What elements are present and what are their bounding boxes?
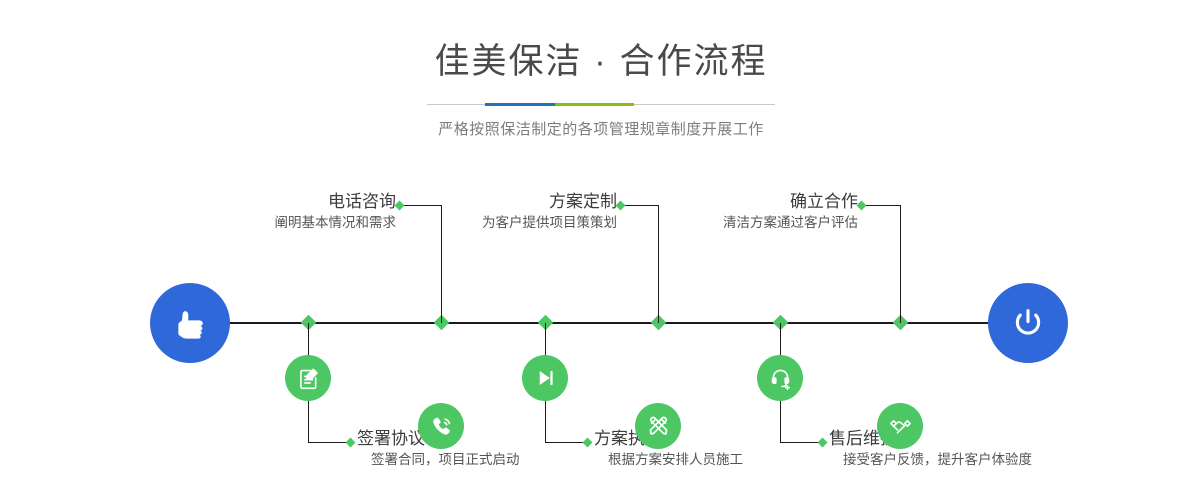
step-icon-badge[interactable] [285,355,331,401]
label-marker [616,201,626,211]
phone-call-icon [428,413,455,440]
step-icon-badge[interactable] [757,355,803,401]
connector-horizontal [399,205,442,206]
play-next-icon [532,365,558,391]
step-label: 确立合作 清洁方案通过客户评估 [683,191,858,233]
step-description: 根据方案安排人员施工 [594,450,743,470]
divider-blue-segment [485,103,555,106]
connector-vertical [658,205,659,323]
step-icon-badge[interactable] [635,403,681,449]
document-edit-icon [295,365,322,392]
hand-pointing-icon [168,301,212,345]
label-marker [857,201,867,211]
flow-diagram-page: 佳美保洁 · 合作流程 严格按照保洁制定的各项管理规章制度开展工作 [0,0,1202,502]
connector-vertical [900,205,901,323]
handshake-icon [887,413,914,440]
label-marker [818,438,828,448]
pencil-ruler-icon [645,413,672,440]
connector-horizontal [861,205,901,206]
connector-horizontal [545,442,587,443]
step-description: 为客户提供项目策策划 [442,213,617,233]
step-icon-badge[interactable] [522,355,568,401]
label-marker [395,201,405,211]
divider-green-segment [555,103,634,106]
process-timeline: 签署协议 签署合同，项目正式启动 电话咨询 阐明基 [0,160,1202,502]
power-icon [1006,301,1050,345]
step-icon-badge[interactable] [418,403,464,449]
step-title: 方案定制 [442,191,617,213]
headset-support-icon [767,365,794,392]
connector-horizontal [620,205,659,206]
step-description: 清洁方案通过客户评估 [683,213,858,233]
step-title: 确立合作 [683,191,858,213]
connector-horizontal [780,442,822,443]
step-label: 售后维护 接受客户反馈，提升客户体验度 [829,428,1032,470]
timeline-end-node[interactable] [988,283,1068,363]
step-description: 接受客户反馈，提升客户体验度 [829,450,1032,470]
step-description: 签署合同，项目正式启动 [357,450,520,470]
step-title: 电话咨询 [221,191,396,213]
step-description: 阐明基本情况和需求 [221,213,396,233]
step-label: 方案定制 为客户提供项目策策划 [442,191,617,233]
page-title: 佳美保洁 · 合作流程 [0,44,1202,79]
step-icon-badge[interactable] [877,403,923,449]
label-marker [583,438,593,448]
page-header: 佳美保洁 · 合作流程 严格按照保洁制定的各项管理规章制度开展工作 [0,0,1202,139]
label-marker [346,438,356,448]
timeline-start-node[interactable] [150,283,230,363]
connector-horizontal [308,442,350,443]
step-title: 售后维护 [829,428,1032,450]
step-label: 电话咨询 阐明基本情况和需求 [221,191,396,233]
title-divider [427,103,775,106]
page-subtitle: 严格按照保洁制定的各项管理规章制度开展工作 [0,118,1202,139]
